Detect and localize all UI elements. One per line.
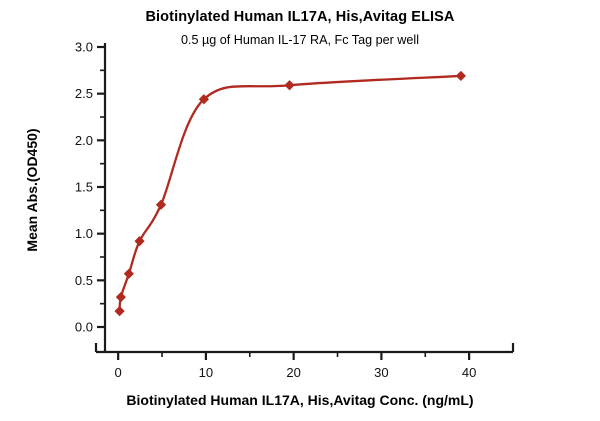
x-tick-label: 10 <box>199 365 213 380</box>
y-tick-label: 0.0 <box>75 320 93 335</box>
series-line <box>120 76 461 311</box>
y-tick-label: 0.5 <box>75 273 93 288</box>
x-tick-label: 30 <box>374 365 388 380</box>
x-tick-label: 20 <box>286 365 300 380</box>
data-point-marker <box>456 72 465 81</box>
chart-container: Biotinylated Human IL17A, His,Avitag ELI… <box>0 0 600 421</box>
y-tick-label: 1.5 <box>75 180 93 195</box>
data-point-marker <box>285 81 294 90</box>
x-tick-label: 0 <box>115 365 122 380</box>
data-point-marker <box>135 237 144 246</box>
y-tick-label: 1.0 <box>75 226 93 241</box>
data-point-marker <box>157 200 166 209</box>
y-tick-label: 2.5 <box>75 86 93 101</box>
data-point-marker <box>115 307 124 316</box>
plot-area: 0.00.51.01.52.02.53.0010203040 <box>0 0 600 421</box>
y-tick-label: 3.0 <box>75 40 93 55</box>
x-tick-label: 40 <box>462 365 476 380</box>
data-point-marker <box>124 269 133 278</box>
y-tick-label: 2.0 <box>75 133 93 148</box>
data-point-marker <box>116 293 125 302</box>
